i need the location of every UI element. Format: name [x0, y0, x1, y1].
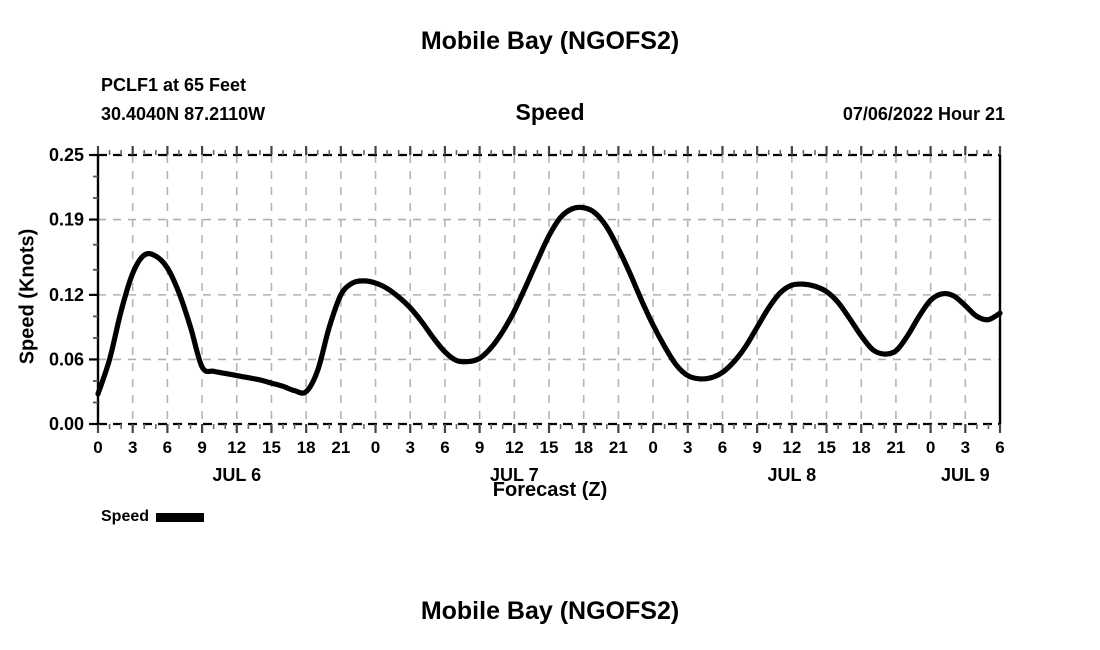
- x-tick-label: 3: [683, 438, 692, 457]
- x-tick-label: 21: [331, 438, 350, 457]
- x-tick-label: 12: [227, 438, 246, 457]
- y-tick-label: 0.00: [49, 414, 84, 434]
- x-tick-label: 3: [961, 438, 970, 457]
- x-tick-label: 6: [995, 438, 1004, 457]
- chart-legend: Speed: [101, 508, 204, 526]
- y-tick-label: 0.25: [49, 145, 84, 165]
- x-tick-label: 3: [405, 438, 414, 457]
- x-axis-label: Forecast (Z): [0, 479, 1100, 502]
- x-tick-label: 15: [540, 438, 559, 457]
- x-tick-label: 15: [817, 438, 836, 457]
- y-tick-label: 0.12: [49, 285, 84, 305]
- x-tick-label: 21: [609, 438, 628, 457]
- x-tick-label: 18: [297, 438, 316, 457]
- x-tick-label: 9: [752, 438, 761, 457]
- x-tick-label: 6: [440, 438, 449, 457]
- x-tick-label: 18: [574, 438, 593, 457]
- y-tick-label: 0.06: [49, 349, 84, 369]
- legend-item-label: Speed: [101, 508, 149, 526]
- speed-time-series-chart: 036912151821036912151821036912151821036J…: [0, 0, 1100, 650]
- x-tick-label: 9: [197, 438, 206, 457]
- y-tick-label: 0.19: [49, 210, 84, 230]
- x-tick-label: 15: [262, 438, 281, 457]
- page-title-bottom: Mobile Bay (NGOFS2): [0, 597, 1100, 626]
- legend-color-swatch: [156, 513, 204, 522]
- x-tick-label: 6: [718, 438, 727, 457]
- x-tick-label: 21: [886, 438, 905, 457]
- x-tick-label: 9: [475, 438, 484, 457]
- x-tick-label: 12: [782, 438, 801, 457]
- x-tick-label: 12: [505, 438, 524, 457]
- x-tick-label: 0: [648, 438, 657, 457]
- x-tick-label: 18: [852, 438, 871, 457]
- x-tick-label: 0: [93, 438, 102, 457]
- x-tick-label: 3: [128, 438, 137, 457]
- x-tick-label: 6: [163, 438, 172, 457]
- chart-page: Mobile Bay (NGOFS2) PCLF1 at 65 Feet 30.…: [0, 0, 1100, 650]
- x-tick-label: 0: [926, 438, 935, 457]
- x-tick-label: 0: [371, 438, 380, 457]
